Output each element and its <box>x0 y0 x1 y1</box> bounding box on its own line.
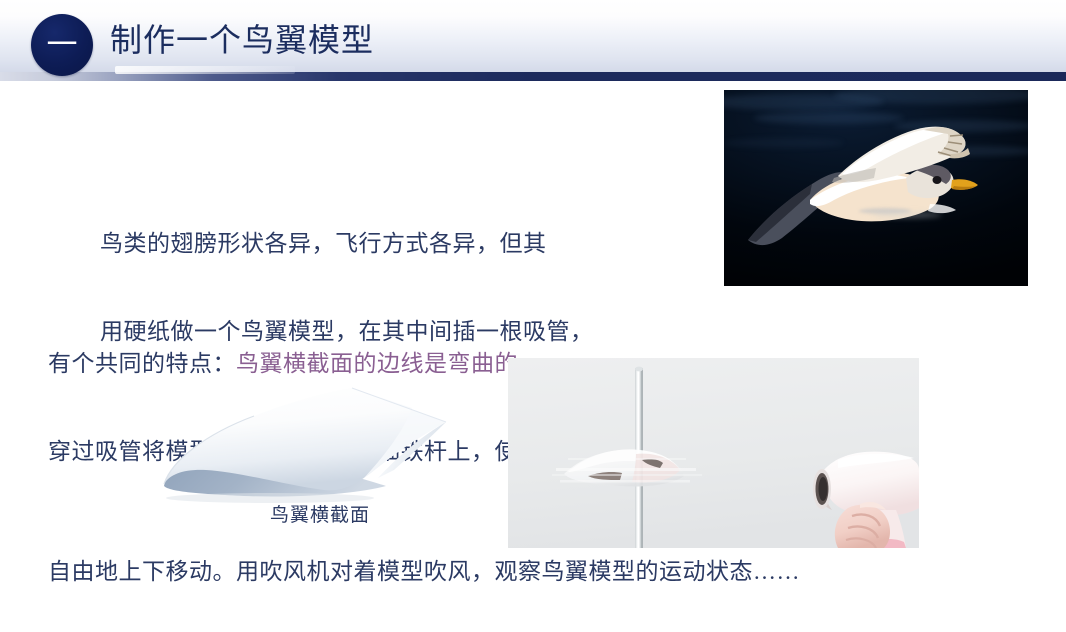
airfoil-caption: 鸟翼横截面 <box>150 500 490 527</box>
page-title: 制作一个鸟翼模型 <box>110 16 374 64</box>
paragraph-two-line-one: 用硬纸做一个鸟翼模型，在其中间插一根吸管， <box>48 312 800 352</box>
seagull-illustration <box>738 118 1014 258</box>
flying-seagull-photo <box>724 90 1028 286</box>
hairdryer-wing-model-experiment-photo <box>508 358 919 548</box>
paragraph-two-line-three: 自由地上下移动。用吹风机对着模型吹风，观察鸟翼模型的运动状态…… <box>48 552 800 592</box>
header-highlight-strip <box>115 66 295 74</box>
section-number-label: 一 <box>31 14 93 76</box>
experiment-scene <box>508 358 919 548</box>
water-ripple <box>872 212 942 218</box>
section-number-badge: 一 <box>31 14 93 76</box>
slide-header: 一 制作一个鸟翼模型 <box>0 0 1066 82</box>
